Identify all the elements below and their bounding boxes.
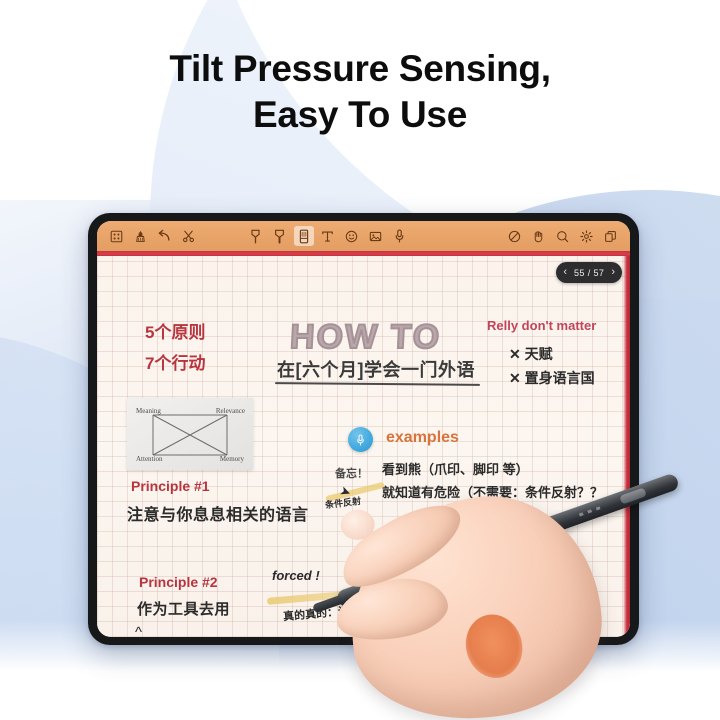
sticker-icon[interactable] bbox=[342, 226, 362, 246]
audio-play-button[interactable] bbox=[348, 427, 373, 452]
note-principle-1-text: 注意与你息息相关的语言 bbox=[127, 501, 309, 525]
diagram-label-memory: Memory bbox=[220, 455, 244, 463]
note-right-item-2: ✕ 置身语言国 bbox=[509, 368, 595, 388]
app-toolbar bbox=[97, 221, 630, 251]
image-icon[interactable] bbox=[366, 226, 386, 246]
toolbar-group-right bbox=[505, 226, 621, 246]
background-bottom-white bbox=[0, 674, 720, 720]
page-navigation: ‹ 55 / 57 › bbox=[556, 262, 622, 283]
page-counter: 55 / 57 bbox=[574, 268, 604, 278]
search-icon[interactable] bbox=[553, 226, 573, 246]
toolbar-group-middle bbox=[246, 226, 410, 246]
toolbar-group-left bbox=[106, 226, 198, 246]
note-annotation-line-1: 看到熊（爪印、脚印 等） bbox=[382, 459, 529, 478]
pen-icon[interactable] bbox=[246, 226, 266, 246]
eraser-icon[interactable] bbox=[294, 226, 314, 246]
note-arrow-2: ➤ bbox=[395, 588, 408, 604]
note-left-item-2: 7个行动 bbox=[145, 349, 205, 374]
note-numbered-item-2: ② bbox=[382, 574, 392, 587]
note-numbered-item-1: ① 变 bbox=[382, 544, 407, 560]
note-caret-mark: ^ bbox=[135, 624, 142, 637]
note-left-item-1: 5个原则 bbox=[145, 318, 205, 343]
note-principle-2-label: Principle #2 bbox=[139, 574, 218, 590]
page-next-button[interactable]: › bbox=[611, 267, 615, 278]
brush-icon[interactable] bbox=[130, 226, 150, 246]
microphone-icon[interactable] bbox=[390, 226, 410, 246]
note-right-heading: Relly don't matter bbox=[487, 318, 596, 333]
no-draw-icon[interactable] bbox=[505, 226, 525, 246]
note-canvas[interactable]: ‹ 55 / 57 › 5个原则 7个行动 HOW TO 在[六个月]学会一门外… bbox=[97, 256, 630, 637]
page-title: Tilt Pressure Sensing, Easy To Use bbox=[0, 46, 720, 138]
note-subtitle: 在[六个月]学会一门外语 bbox=[277, 356, 475, 382]
gear-icon[interactable] bbox=[577, 226, 597, 246]
note-examples-label: examples bbox=[386, 429, 459, 447]
note-principle-2-text: 作为工具去用 bbox=[137, 598, 230, 619]
note-arrow-3: ➤ bbox=[365, 569, 374, 582]
note-annotation-forced: forced ! bbox=[272, 568, 320, 583]
diagram-label-relevance: Relevance bbox=[216, 407, 245, 415]
copy-icon[interactable] bbox=[601, 226, 621, 246]
headline-line-2: Easy To Use bbox=[0, 92, 720, 138]
headline-line-1: Tilt Pressure Sensing, bbox=[169, 48, 550, 89]
diagram-label-meaning: Meaning bbox=[136, 407, 161, 415]
tablet-device: ‹ 55 / 57 › 5个原则 7个行动 HOW TO 在[六个月]学会一门外… bbox=[88, 213, 639, 645]
note-annotation-beiwang: 备忘！ bbox=[335, 465, 368, 481]
note-title-bubble: HOW TO bbox=[289, 318, 442, 357]
note-highlight-forced bbox=[267, 586, 402, 605]
grid-icon[interactable] bbox=[106, 226, 126, 246]
diagram-label-attention: Attention bbox=[136, 455, 162, 463]
note-diagram-card: Meaning Relevance Attention Memory bbox=[127, 398, 253, 470]
note-right-item-1: ✕ 天赋 bbox=[509, 344, 553, 364]
note-principle-1-label: Principle #1 bbox=[131, 478, 210, 494]
note-annotation-line-2: 就知道有危险（不需要：条件反射？？ bbox=[382, 482, 603, 501]
text-icon[interactable] bbox=[318, 226, 338, 246]
microphone-icon bbox=[356, 434, 365, 446]
tablet-screen: ‹ 55 / 57 › 5个原则 7个行动 HOW TO 在[六个月]学会一门外… bbox=[97, 221, 630, 637]
note-annotation-bottom: 真的真的：说所有的 bbox=[282, 600, 382, 625]
highlighter-icon[interactable] bbox=[270, 226, 290, 246]
page-prev-button[interactable]: ‹ bbox=[563, 267, 567, 278]
note-subtitle-underline bbox=[275, 382, 480, 386]
scissors-icon[interactable] bbox=[178, 226, 198, 246]
toolbar-accent-bar bbox=[97, 251, 630, 256]
undo-icon[interactable] bbox=[154, 226, 174, 246]
hand-icon[interactable] bbox=[529, 226, 549, 246]
